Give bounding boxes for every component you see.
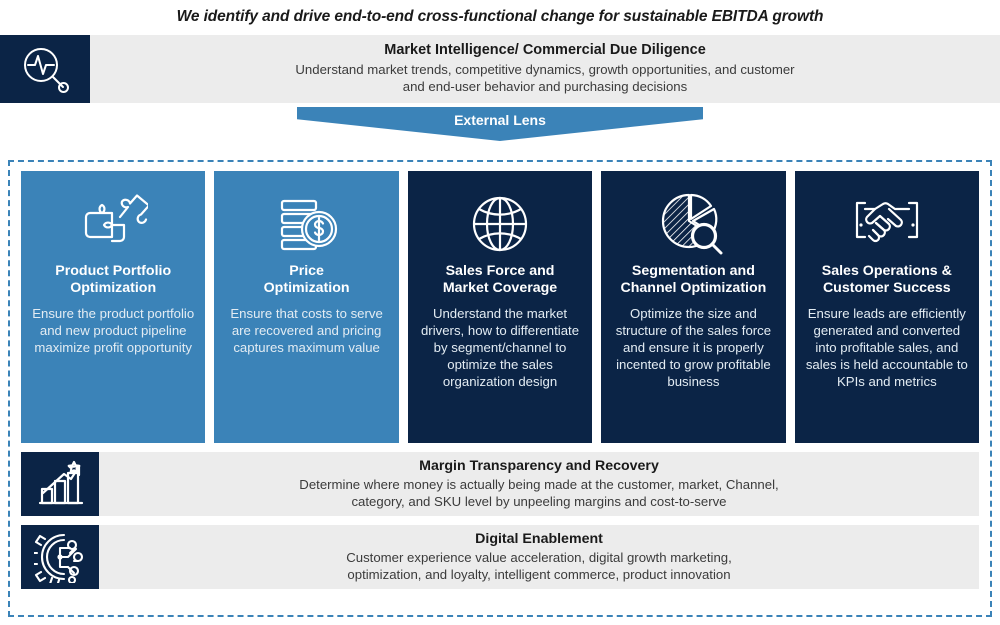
market-intelligence-body: Market Intelligence/ Commercial Due Dili… — [90, 35, 1000, 103]
pillar-card-segmentation-and-channel-optimization[interactable]: Segmentation and Channel Optimization Op… — [601, 171, 785, 443]
down-arrow-banner: External Lens — [297, 107, 703, 141]
pillar-card-row: Product Portfolio Optimization Ensure th… — [21, 171, 979, 443]
pillar-title-line2: Optimization — [70, 280, 156, 296]
band-desc-line2: category, and SKU level by unpeeling mar… — [351, 493, 726, 510]
market-intelligence-desc-line2: and end-user behavior and purchasing dec… — [403, 78, 687, 95]
external-lens-arrow-wrap: External Lens — [0, 105, 1000, 143]
pillar-title-line1: Price — [289, 263, 324, 279]
pillar-title-line2: Optimization — [264, 280, 350, 296]
pillar-card-title: Price Optimization — [264, 263, 350, 297]
pillar-title-line1: Segmentation and — [632, 263, 755, 279]
pie-chart-magnifier-icon — [659, 187, 727, 261]
coins-dollar-icon — [272, 187, 342, 261]
slide-canvas: We identify and drive end-to-end cross-f… — [0, 0, 1000, 625]
pillar-card-title: Product Portfolio Optimization — [55, 263, 171, 297]
band-body: Digital Enablement Customer experience v… — [99, 525, 979, 589]
band-desc-line1: Determine where money is actually being … — [299, 476, 778, 493]
pillar-card-description: Optimize the size and structure of the s… — [609, 305, 777, 390]
pillar-title-line2: Channel Optimization — [621, 280, 767, 296]
pillar-title-line1: Product Portfolio — [55, 263, 171, 279]
pillar-title-line1: Sales Force and — [446, 263, 555, 279]
pillar-card-product-portfolio-optimization[interactable]: Product Portfolio Optimization Ensure th… — [21, 171, 205, 443]
pillar-card-title: Sales Force and Market Coverage — [443, 263, 557, 297]
pillar-card-description: Ensure that costs to serve are recovered… — [222, 305, 390, 356]
pillar-card-sales-operations-and-customer-success[interactable]: Sales Operations & Customer Success Ensu… — [795, 171, 979, 443]
pillar-title-line2: Market Coverage — [443, 280, 557, 296]
handshake-icon — [849, 187, 925, 261]
bar-chart-growth-star-icon — [21, 452, 99, 516]
page-title: We identify and drive end-to-end cross-f… — [0, 0, 1000, 31]
band-desc-line1: Customer experience value acceleration, … — [346, 549, 732, 566]
market-intelligence-desc-line1: Understand market trends, competitive dy… — [295, 61, 794, 78]
pillar-card-price-optimization[interactable]: Price Optimization Ensure that costs to … — [214, 171, 398, 443]
external-lens-label: External Lens — [454, 107, 546, 130]
pillar-title-line1: Sales Operations & — [822, 263, 952, 279]
band-desc-line2: optimization, and loyalty, intelligent c… — [347, 566, 730, 583]
band-title: Digital Enablement — [475, 530, 603, 548]
puzzle-pieces-icon — [78, 187, 148, 261]
band-margin-transparency-and-recovery: Margin Transparency and Recovery Determi… — [21, 452, 979, 516]
market-intelligence-title: Market Intelligence/ Commercial Due Dili… — [384, 41, 706, 59]
band-digital-enablement: Digital Enablement Customer experience v… — [21, 525, 979, 589]
pillar-card-description: Understand the market drivers, how to di… — [416, 305, 584, 390]
pillar-card-description: Ensure leads are efficiently generated a… — [803, 305, 971, 390]
band-body: Margin Transparency and Recovery Determi… — [99, 452, 979, 516]
internal-lens-container: Product Portfolio Optimization Ensure th… — [8, 160, 992, 617]
pillar-title-line2: Customer Success — [823, 280, 951, 296]
band-title: Margin Transparency and Recovery — [419, 457, 659, 475]
magnifier-pulse-icon — [0, 35, 90, 103]
pillar-card-description: Ensure the product portfolio and new pro… — [29, 305, 197, 356]
pillar-card-title: Sales Operations & Customer Success — [822, 263, 952, 297]
gear-circuit-icon — [21, 525, 99, 589]
pillar-card-title: Segmentation and Channel Optimization — [621, 263, 767, 297]
globe-icon — [468, 187, 532, 261]
market-intelligence-band: Market Intelligence/ Commercial Due Dili… — [0, 35, 1000, 103]
pillar-card-sales-force-and-market-coverage[interactable]: Sales Force and Market Coverage Understa… — [408, 171, 592, 443]
